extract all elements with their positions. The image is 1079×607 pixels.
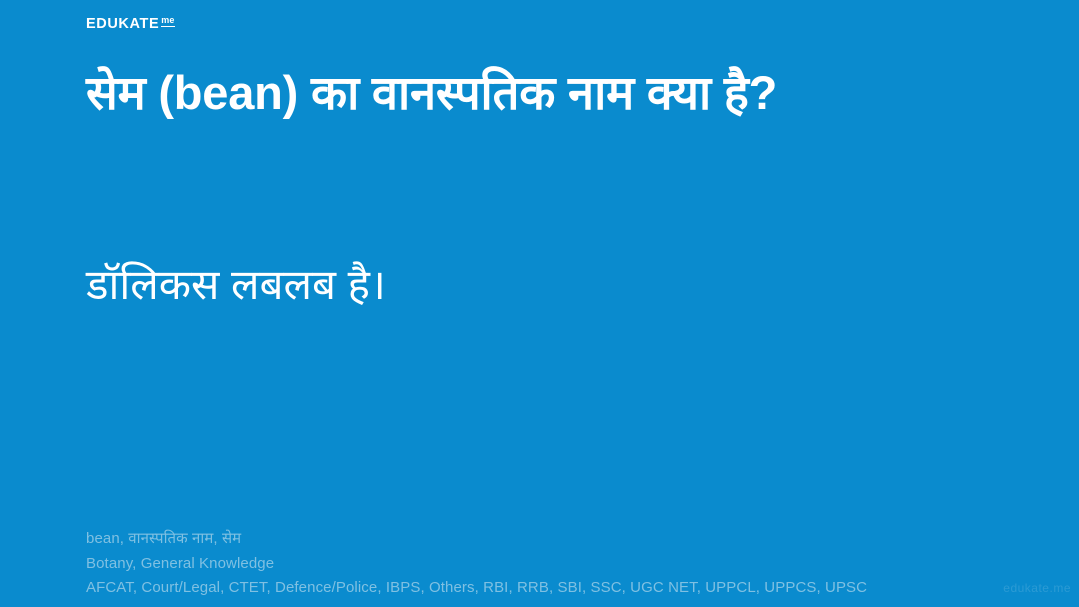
footer-metadata: bean, वानस्पतिक नाम, सेम Botany, General… <box>86 527 1066 601</box>
footer-keywords: bean, वानस्पतिक नाम, सेम <box>86 527 1066 552</box>
brand-name-text: EDUKATE <box>86 17 159 32</box>
question-heading: सेम (bean) का वानस्पतिक नाम क्या है? <box>86 62 966 124</box>
quiz-slide: EDUKATE me सेम (bean) का वानस्पतिक नाम क… <box>0 0 1079 607</box>
edukate-logo[interactable]: EDUKATE me <box>86 17 175 32</box>
answer-text: डॉलिकस लबलब है। <box>86 258 966 313</box>
brand-superscript-text: me <box>161 16 174 27</box>
footer-subjects: Botany, General Knowledge <box>86 552 1066 577</box>
corner-watermark: edukate.me <box>1003 581 1071 595</box>
footer-exams: AFCAT, Court/Legal, CTET, Defence/Police… <box>86 576 1066 601</box>
